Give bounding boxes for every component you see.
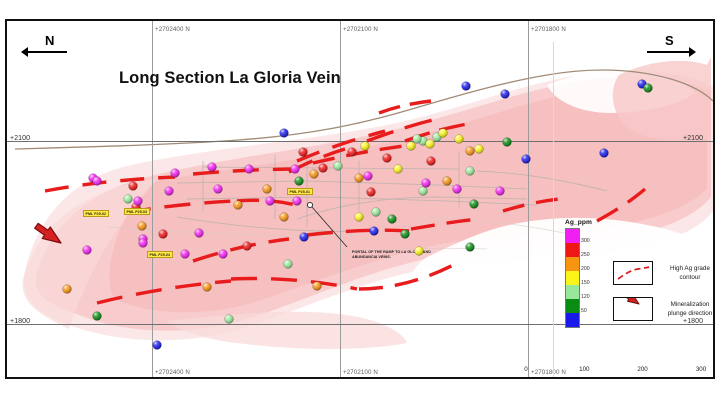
assay-point[interactable] (348, 148, 357, 157)
assay-point[interactable] (455, 135, 464, 144)
assay-point[interactable] (453, 185, 462, 194)
ag-ppm-tick-150: 150 (581, 281, 590, 286)
assay-point[interactable] (129, 182, 138, 191)
ag-ppm-ramp-cell-1 (566, 243, 579, 257)
assay-point[interactable] (413, 135, 422, 144)
assay-point[interactable] (300, 233, 309, 242)
ag-ppm-ramp-cell-6 (566, 313, 579, 327)
assay-point[interactable] (407, 142, 416, 151)
assay-point[interactable] (372, 208, 381, 217)
assay-point[interactable] (165, 187, 174, 196)
assay-point[interactable] (522, 155, 531, 164)
assay-point[interactable] (243, 242, 252, 251)
assay-point[interactable] (310, 170, 319, 179)
assay-point[interactable] (208, 163, 217, 172)
high-ag-contour-label-line2: contour (679, 274, 700, 281)
ag-ppm-ramp-wrapper: 30025020015012050 (565, 228, 615, 326)
assay-point[interactable] (93, 177, 102, 186)
assay-point[interactable] (153, 341, 162, 350)
assay-point[interactable] (466, 147, 475, 156)
ag-ppm-ramp-cell-3 (566, 271, 579, 285)
plunge-direction-label-line2: plunge direction (668, 310, 712, 317)
high-ag-contour-label: High Ag grade contour (659, 264, 713, 282)
map-canvas[interactable]: +2702400 N +2702100 N +2701800 N +270240… (7, 21, 713, 377)
assay-point[interactable] (280, 213, 289, 222)
plunge-direction-swatch (613, 297, 653, 321)
assay-point[interactable] (644, 84, 653, 93)
assay-point[interactable] (443, 177, 452, 186)
legend-divider (553, 42, 554, 377)
assay-point[interactable] (245, 165, 254, 174)
assay-point[interactable] (266, 197, 275, 206)
assay-point[interactable] (83, 246, 92, 255)
map-page: +2702400 N +2702100 N +2701800 N +270240… (0, 0, 720, 405)
assay-point[interactable] (394, 165, 403, 174)
assay-point[interactable] (280, 129, 289, 138)
drill-hole-label[interactable]: PML P25-01 (287, 188, 313, 195)
legend-item-high-ag-contour: High Ag grade contour (613, 261, 713, 285)
plunge-direction-label: Mineralization plunge direction (659, 300, 713, 318)
legend-item-plunge-direction: Mineralization plunge direction (613, 297, 713, 321)
assay-point[interactable] (334, 162, 343, 171)
assay-point[interactable] (195, 229, 204, 238)
scale-bar-label-0: 0 (524, 366, 527, 373)
ag-ppm-tick-120: 120 (581, 295, 590, 300)
high-ag-contour-swatch (613, 261, 653, 285)
plunge-direction-label-line1: Mineralization (671, 301, 710, 308)
assay-point[interactable] (219, 250, 228, 259)
assay-point[interactable] (415, 247, 424, 256)
ag-ppm-color-ramp (565, 228, 580, 328)
ag-ppm-tick-50: 50 (581, 309, 587, 314)
high-ag-contour-label-line1: High Ag grade (670, 265, 710, 272)
ag-ppm-ramp-cell-2 (566, 257, 579, 271)
assay-point[interactable] (470, 200, 479, 209)
assay-point[interactable] (496, 187, 505, 196)
assay-point[interactable] (355, 174, 364, 183)
assay-point[interactable] (462, 82, 471, 91)
assay-point[interactable] (319, 164, 328, 173)
ag-ppm-legend-title: Ag_ppm (565, 219, 615, 226)
assay-point[interactable] (439, 129, 448, 138)
ag-ppm-tick-200: 200 (581, 267, 590, 272)
assay-point[interactable] (263, 185, 272, 194)
assay-point[interactable] (426, 140, 435, 149)
assay-point[interactable] (291, 165, 300, 174)
assay-point[interactable] (361, 142, 370, 151)
assay-point[interactable] (427, 157, 436, 166)
ag-ppm-ramp-cell-0 (566, 229, 579, 243)
assay-point[interactable] (181, 250, 190, 259)
assay-point[interactable] (138, 222, 147, 231)
assay-point[interactable] (139, 239, 148, 248)
assay-point[interactable] (214, 185, 223, 194)
assay-point[interactable] (299, 148, 308, 157)
assay-point[interactable] (295, 177, 304, 186)
assay-point[interactable] (422, 179, 431, 188)
ag-ppm-tick-250: 250 (581, 253, 590, 258)
assay-point[interactable] (466, 243, 475, 252)
ag-ppm-tick-300: 300 (581, 239, 590, 244)
assay-point[interactable] (355, 213, 364, 222)
assay-point[interactable] (203, 283, 212, 292)
ag-ppm-legend: Ag_ppm 30025020015012050 (565, 219, 615, 326)
assay-point[interactable] (225, 315, 234, 324)
assay-point[interactable] (383, 154, 392, 163)
assay-point[interactable] (466, 167, 475, 176)
assay-point[interactable] (388, 215, 397, 224)
plunge-arrow-icon (614, 298, 652, 320)
assay-point[interactable] (364, 172, 373, 181)
assay-point[interactable] (63, 285, 72, 294)
assay-point[interactable] (284, 260, 293, 269)
assay-point[interactable] (503, 138, 512, 147)
scale-bar-label-100: 100 (579, 366, 589, 373)
dashed-contour-icon (614, 262, 652, 284)
assay-point[interactable] (419, 187, 428, 196)
scale-bar-numbers: 0100200300 (526, 366, 701, 375)
assay-point[interactable] (159, 230, 168, 239)
drill-hole-label[interactable]: PML P25-04 (147, 251, 173, 258)
assay-point[interactable] (293, 197, 302, 206)
assay-point[interactable] (124, 195, 133, 204)
assay-point[interactable] (171, 169, 180, 178)
assay-point[interactable] (501, 90, 510, 99)
assay-point[interactable] (475, 145, 484, 154)
assay-point[interactable] (367, 188, 376, 197)
assay-point[interactable] (234, 201, 243, 210)
ag-ppm-ramp-cell-5 (566, 299, 579, 313)
ag-ppm-ramp-cell-4 (566, 285, 579, 299)
assay-point[interactable] (313, 282, 322, 291)
assay-point[interactable] (93, 312, 102, 321)
assay-point[interactable] (600, 149, 609, 158)
drill-hole-label[interactable]: PML P25-03 (124, 208, 150, 215)
scale-bar-label-200: 200 (637, 366, 647, 373)
assay-point[interactable] (401, 230, 410, 239)
scale-bar: 0100200300 (526, 366, 701, 377)
assay-point[interactable] (134, 197, 143, 206)
assay-point[interactable] (370, 227, 379, 236)
map-frame: +2702400 N +2702100 N +2701800 N +270240… (5, 19, 715, 379)
scale-bar-label-300: 300 (696, 366, 706, 373)
drill-hole-label[interactable]: PML P25-02 (83, 210, 109, 217)
